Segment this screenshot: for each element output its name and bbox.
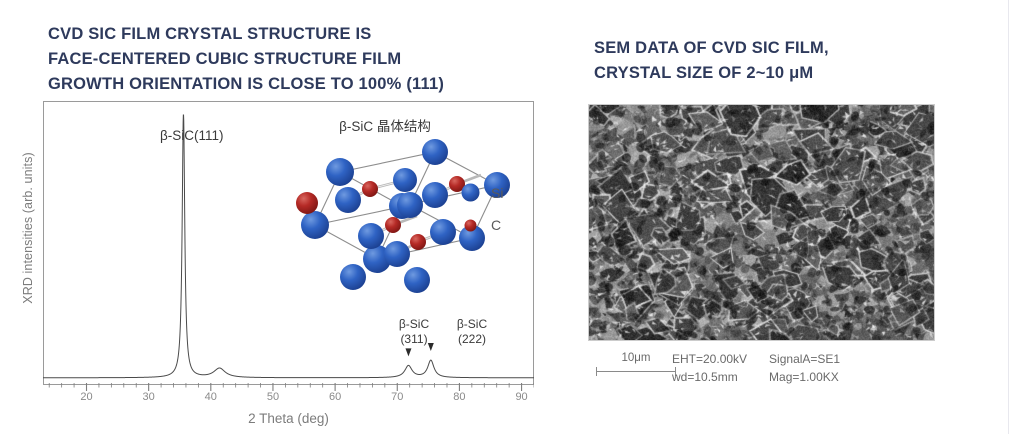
- peak-arrow-icon: [405, 348, 411, 356]
- right-panel-heading: SEM DATA OF CVD SIC FILM, CRYSTAL SIZE O…: [594, 36, 974, 86]
- sem-panel: 10μm EHT=20.00kV wd=10.5mm SignalA=SE1 M…: [588, 100, 988, 400]
- sem-scale-bar-icon: [596, 367, 676, 376]
- si-legend-label: Si: [491, 185, 503, 201]
- sem-meta-signal: SignalA=SE1: [769, 350, 840, 368]
- sem-meta-mag: Mag=1.00KX: [769, 368, 840, 386]
- xrd-tick-label: 30: [143, 391, 155, 403]
- left-panel-heading: CVD SIC FILM CRYSTAL STRUCTURE IS FACE-C…: [48, 22, 548, 97]
- c-legend-label: C: [491, 217, 501, 233]
- crystal-structure-inset: β-SiC 晶体结构: [285, 115, 530, 300]
- xrd-tick-label: 20: [80, 391, 92, 403]
- xrd-tick-label: 90: [515, 391, 527, 403]
- xrd-y-axis-label: XRD intensities (arb. units): [21, 128, 35, 328]
- sem-micrograph: [588, 104, 935, 341]
- sem-meta-eht: EHT=20.00kV: [672, 350, 747, 368]
- sem-micrograph-canvas: [589, 105, 934, 340]
- sem-metadata-left-column: EHT=20.00kV wd=10.5mm: [672, 350, 747, 386]
- peak-arrow-icon: [428, 343, 434, 351]
- xrd-tick-label: 80: [453, 391, 465, 403]
- xrd-tick-label: 50: [267, 391, 279, 403]
- sem-scale-bar-group: 10μm: [592, 352, 684, 376]
- xrd-tick-label: 70: [391, 391, 403, 403]
- sem-metadata-bar: 10μm EHT=20.00kV wd=10.5mm SignalA=SE1 M…: [588, 352, 948, 396]
- xrd-chart-panel: 2030405060708090 2 Theta (deg) XRD inten…: [0, 95, 560, 435]
- sem-metadata-columns: EHT=20.00kV wd=10.5mm SignalA=SE1 Mag=1.…: [672, 350, 840, 386]
- c-legend-icon: [464, 219, 477, 232]
- crystal-structure-title: β-SiC 晶体结构: [285, 115, 485, 135]
- sem-meta-wd: wd=10.5mm: [672, 368, 747, 386]
- xrd-x-tick-labels: 2030405060708090: [43, 391, 534, 407]
- sem-scale-bar-label: 10μm: [596, 352, 676, 364]
- xrd-tick-label: 60: [329, 391, 341, 403]
- si-legend-icon: [461, 183, 480, 202]
- sem-metadata-right-column: SignalA=SE1 Mag=1.00KX: [769, 350, 840, 386]
- xrd-tick-label: 40: [205, 391, 217, 403]
- xrd-x-axis-label: 2 Theta (deg): [43, 411, 534, 426]
- crystal-legend: Si C: [461, 183, 503, 233]
